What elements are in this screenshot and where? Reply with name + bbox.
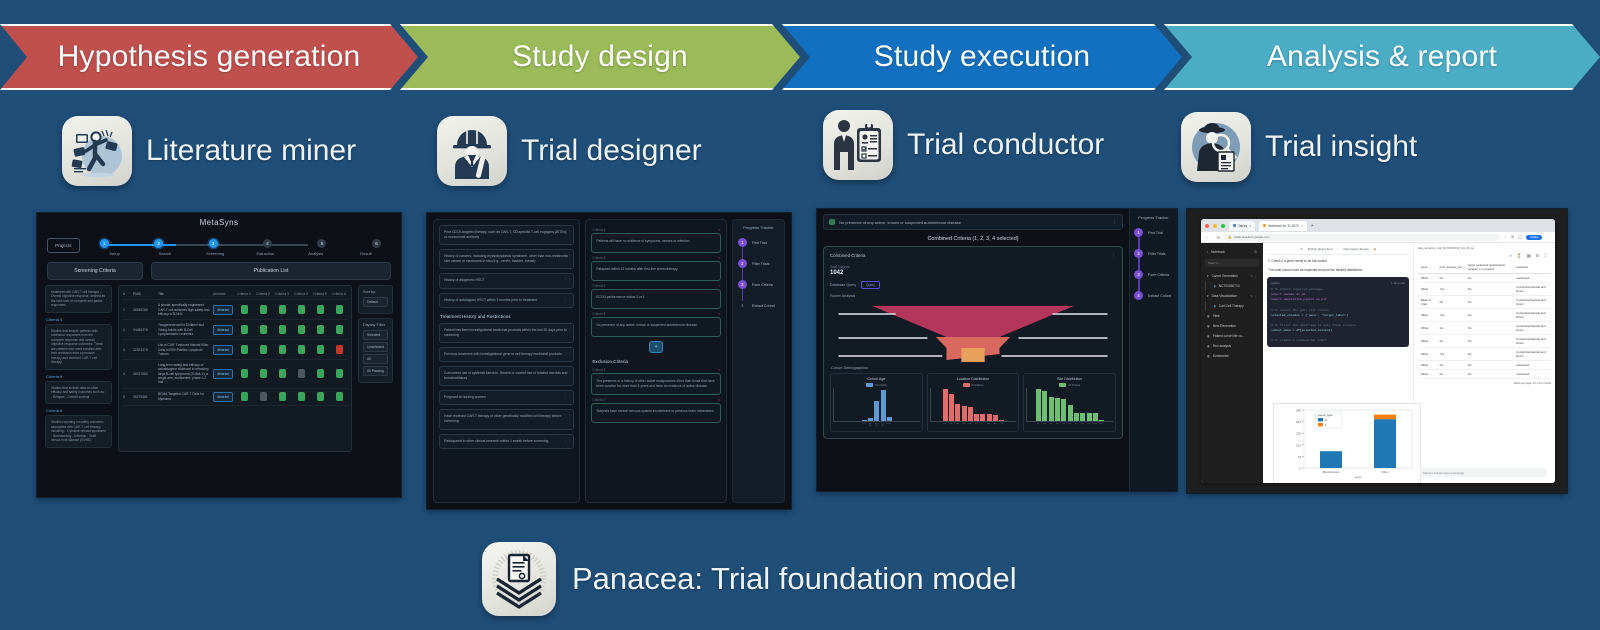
tab-close-icon[interactable]: ×	[1249, 224, 1251, 228]
col-index: #	[123, 292, 130, 296]
step-label-search: Search	[147, 251, 183, 256]
step-dot-4[interactable]: 4	[263, 239, 272, 248]
browser-tab-notebook[interactable]: Notebook for 31.2023 ×	[1259, 221, 1307, 231]
nav-sub-label: NCT00030710	[1219, 284, 1240, 288]
criteria-label[interactable]: Criteria 4	[46, 317, 112, 322]
agent-trial-insight[interactable]: Trial insight	[1181, 112, 1417, 182]
filter-icon[interactable]: ⏳	[1517, 253, 1522, 258]
publication-list-header[interactable]: Publication List	[151, 262, 391, 280]
criteria-cell-6[interactable]	[331, 345, 347, 354]
query-button[interactable]: Query	[861, 281, 880, 289]
trial-designer-body: Prior CD19-targeted therapy, such as CAR…	[427, 213, 791, 509]
svg-text:Other: Other	[1381, 470, 1389, 474]
criteria-input[interactable]: No presence of any active, known or susp…	[591, 317, 720, 337]
criteria-cell-2[interactable]	[255, 392, 271, 401]
criteria-cell-6[interactable]	[331, 305, 347, 314]
criteria-item[interactable]: Prior CD19-targeted therapy, such as CAR…	[439, 225, 574, 245]
criteria-cell-4[interactable]	[293, 345, 309, 354]
status-badge	[298, 369, 305, 378]
back-icon[interactable]: ‹	[1206, 235, 1207, 240]
inclusion-criteria-column[interactable]: Criteria 1✕Patients will have no evidenc…	[585, 219, 726, 503]
list-icon[interactable]: ☰	[1536, 253, 1540, 258]
editor-icon[interactable]: ✎	[1300, 247, 1303, 251]
grid-cell: Cyclophosphamide and Doxor	[1513, 348, 1551, 361]
nav-item-label: New Generation	[1213, 324, 1236, 328]
table-row[interactable]: 438017683Long-term safety and efficacy o…	[122, 360, 348, 389]
menu-icon[interactable]: ⋮	[1546, 235, 1550, 239]
criteria-cell-6[interactable]	[331, 392, 347, 401]
dot-icon: ◍	[1207, 354, 1210, 358]
drag-handle-icon[interactable]: ⋮⋮	[563, 351, 571, 357]
grid-row[interactable]: WhiteNoNoCyclophosphamide and Doxor	[1418, 335, 1551, 348]
criteria-input[interactable]: Subjects have central nervous system inv…	[591, 403, 720, 423]
profile-icon[interactable]: ◯	[1518, 235, 1522, 239]
agent-label: Trial insight	[1265, 130, 1417, 164]
metasyns-topbar: Projects 1 2 3 4 5 6 Setup Search Screen…	[37, 227, 401, 256]
criteria-cell-3[interactable]	[274, 305, 290, 314]
status-badge	[260, 392, 267, 401]
projects-button[interactable]: Projects	[47, 238, 80, 253]
display-filter-label: Display Filter	[363, 323, 388, 327]
abstract-button[interactable]: Abstract	[213, 325, 233, 335]
forward-icon[interactable]: ›	[1211, 235, 1212, 240]
criteria-fields: Criteria 1✕Patients will have no evidenc…	[591, 228, 720, 337]
agent-label: Trial designer	[521, 134, 702, 168]
svg-text:228: 228	[1296, 432, 1301, 436]
drag-handle-icon[interactable]: ⋮⋮	[563, 277, 571, 283]
agent-trial-conductor[interactable]: Trial conductor	[823, 110, 1104, 180]
criteria-input[interactable]: The presence or a history of other activ…	[591, 373, 720, 395]
criteria-item[interactable]: Previous treatment with investigational …	[439, 347, 574, 362]
table-row[interactable]: 538275381BCMA-Targeted CAR-T Cells for M…	[122, 389, 348, 406]
drag-handle-icon[interactable]: ⋮⋮	[563, 297, 571, 303]
svg-text:304: 304	[1296, 420, 1301, 424]
criteria-item[interactable]: Pregnant or nursing women⋮⋮	[439, 390, 574, 405]
legend-label: All Criteria	[1068, 384, 1080, 387]
criteria-cell-5[interactable]	[312, 345, 328, 354]
nav-item[interactable]: ◍New Generation	[1205, 321, 1259, 331]
stage-study-design[interactable]: Study design	[400, 24, 800, 90]
chevron-left-icon[interactable]: ‹	[1207, 250, 1208, 254]
criteria-label: Criteria 2✕	[592, 398, 720, 402]
grid-row[interactable]: WhiteNoNoused/used	[1418, 361, 1551, 370]
stage-label: Hypothesis generation	[58, 40, 361, 74]
grid-cell: No	[1465, 361, 1513, 370]
status-badge	[279, 325, 286, 334]
prompt-input[interactable]: Select a cell and type a message	[1419, 468, 1547, 477]
stacked-document-icon	[482, 542, 556, 616]
step-label-result: Result	[348, 251, 384, 256]
progress-step[interactable]: 2Filter Trials	[738, 259, 779, 268]
criteria-item[interactable]: History of allogeneic HSCT⋮⋮	[439, 273, 574, 288]
browser-tab-tables[interactable]: Tables ×	[1229, 221, 1255, 231]
grid-cell: used/used	[1513, 361, 1551, 370]
remove-icon[interactable]: ✕	[718, 228, 721, 232]
chart-bar	[1042, 391, 1047, 421]
svg-text:76: 76	[1298, 455, 1302, 459]
step-number: 3	[738, 280, 747, 289]
criteria-cell-5[interactable]	[312, 369, 328, 378]
close-window-icon[interactable]	[1205, 224, 1209, 228]
row-title: BCMA-Targeted CAR-T Cells for Myeloma	[158, 392, 210, 401]
row-title: List of CAR-T-induced Natural Killer Cel…	[158, 343, 210, 356]
dot-icon: ◍	[1207, 314, 1210, 318]
criteria-input[interactable]: Patients will have no evidence of sympto…	[591, 233, 720, 253]
data-grid-pane[interactable]: data_extraction_trial_NCT00030710_info_0…	[1413, 243, 1555, 483]
criteria-cell-3[interactable]	[274, 369, 290, 378]
criteria-card: treatment with CAR-T cell therapy. - Ove…	[45, 285, 112, 313]
drag-handle-icon[interactable]: ⋮⋮	[563, 327, 571, 333]
nav-sub-item[interactable]: ▮Cart Cell Therapy	[1205, 301, 1259, 311]
minimize-window-icon[interactable]	[1213, 224, 1217, 228]
screenshot-literature-miner[interactable]: MetaSyns Projects 1 2 3 4 5 6 Setup Sear…	[36, 212, 402, 498]
criteria-cell-1[interactable]	[236, 369, 252, 378]
filter-option-all-passing[interactable]: All Passing	[363, 366, 388, 376]
filter-option-all[interactable]: All	[363, 354, 388, 364]
publication-table[interactable]: # PMID Title Abstract Criteria 1 Criteri…	[118, 285, 352, 452]
grid-row[interactable]: WhiteNoNoused/used	[1418, 274, 1551, 283]
grid-row[interactable]: WhiteNoNoCyclophosphamide and Doxor	[1418, 322, 1551, 335]
grid-row[interactable]: Black or ArabNoNoCyclophosphamide and Do…	[1418, 296, 1551, 309]
notebook-toolbar: ✎ Python Query Tool | View Query Source …	[1267, 247, 1409, 255]
grid-cell: White	[1418, 348, 1437, 361]
sort-by-select[interactable]: Default	[363, 297, 388, 307]
nav-section-label: Cohort Generation	[1212, 274, 1238, 278]
bookmark-icon[interactable]: ☆	[1504, 235, 1507, 239]
status-badge	[241, 392, 248, 401]
legend-swatch	[963, 383, 970, 387]
display-filter-box[interactable]: Display Filter Selected Unselected All A…	[358, 318, 393, 383]
col-criteria-3: Criteria 3	[274, 292, 290, 296]
code-line: # To create a stacked bar chart	[1271, 338, 1405, 343]
step-dot-3[interactable]: 3	[209, 239, 218, 248]
total-subjects-value: 1042	[830, 270, 1116, 276]
search-icon[interactable]: ⌕	[1510, 253, 1512, 258]
criteria-cell-5[interactable]	[312, 392, 328, 401]
criterion-bar[interactable]: No presence of any active, known or susp…	[823, 214, 1123, 230]
table-row[interactable]: 332923375List of CAR-T-induced Natural K…	[122, 340, 348, 360]
criteria-input[interactable]: ECOG performance status 0 or 1	[591, 289, 720, 309]
nav-item-label: Patient cohort file co...	[1213, 334, 1245, 338]
grid-pagination[interactable]: Rows per page: 10 1-10 of 1042	[1418, 379, 1551, 385]
chart-icon: ▮	[1214, 304, 1216, 308]
collapse-icon[interactable]: ⎘	[1254, 250, 1257, 254]
abstract-button[interactable]: Abstract	[213, 345, 233, 355]
grid-cell: Yes	[1437, 348, 1465, 361]
run-cell-button[interactable]: ▷ Run cell	[1391, 281, 1405, 285]
drag-handle-icon[interactable]: ⋮⋮	[563, 229, 571, 235]
update-button[interactable]: Update	[1526, 235, 1542, 240]
nav-item[interactable]: ◍Summarize	[1205, 351, 1259, 361]
drag-handle-icon[interactable]: ⋮⋮	[563, 394, 571, 400]
criteria-cell-1[interactable]	[236, 345, 252, 354]
trial-conductor-body: No presence of any active, known or susp…	[817, 209, 1177, 491]
nav-item[interactable]: ◍Files	[1205, 311, 1259, 321]
play-icon: ▷	[1391, 281, 1393, 285]
criteria-item[interactable]: History of cancers, including myelodyspl…	[439, 249, 574, 269]
reload-icon[interactable]: ⟳	[1217, 235, 1220, 240]
screening-criteria-list[interactable]: treatment with CAR-T cell therapy. - Ove…	[45, 285, 112, 452]
python-query-tool-button[interactable]: Python Query Tool	[1308, 247, 1333, 251]
criteria-cell-3[interactable]	[274, 345, 290, 354]
row-index: 2	[123, 328, 130, 332]
address-field[interactable]: 🔒 colab.research.google.com	[1224, 234, 1500, 241]
progress-steps: 1Find Trial2Filter Trials3Form Criteria4…	[1134, 228, 1173, 300]
maximize-window-icon[interactable]	[1221, 224, 1225, 228]
grid-column-header[interactable]: gene	[1418, 261, 1437, 274]
criteria-cell-4[interactable]	[293, 325, 309, 334]
criteria-cell-1[interactable]	[236, 305, 252, 314]
abstract-button[interactable]: Abstract	[213, 305, 233, 315]
progress-steps: 1Find Trial2Filter Trials3Form Criteria4…	[738, 238, 779, 310]
grid-row[interactable]: WhiteNoNoused/used	[1418, 370, 1551, 379]
legend-swatch	[866, 383, 873, 387]
grid-cell: White	[1418, 274, 1437, 283]
grid-cell: No	[1465, 322, 1513, 335]
criteria-cell-4[interactable]	[293, 305, 309, 314]
criteria-cell-5[interactable]	[312, 325, 328, 334]
criteria-label: Criteria 2✕	[592, 256, 720, 260]
criteria-input[interactable]: Relapsed within 12 months after first-li…	[591, 261, 720, 281]
criteria-cell-6[interactable]	[331, 369, 347, 378]
svg-text:380: 380	[1296, 409, 1301, 413]
lock-icon: 🔒	[1228, 235, 1232, 239]
nav-section[interactable]: ▾Data Visualization✎ ⋮	[1205, 291, 1259, 301]
browser-window[interactable]: Tables × Notebook for 31.2023 × + ‹ › ⟳ …	[1201, 219, 1555, 483]
sort-by-box[interactable]: Sort by: Default	[358, 285, 393, 314]
grid-cell: White	[1418, 322, 1437, 335]
criteria-item[interactable]: Patient has been investigational medicin…	[439, 323, 574, 343]
criteria-cell-6[interactable]	[331, 325, 347, 334]
grid-cell: Cyclophosphamide and Doxor	[1513, 296, 1551, 309]
step-dot-6[interactable]: 6	[372, 239, 381, 248]
criteria-label[interactable]: Criteria 5	[46, 374, 112, 379]
status-badge	[298, 345, 305, 354]
combined-criteria-title: Combined Criteria (1, 2, 3, 4 selected)	[823, 230, 1123, 246]
exclusion-items-column[interactable]: Prior CD19-targeted therapy, such as CAR…	[433, 219, 580, 503]
progress-step[interactable]: 1Find Trial	[738, 238, 779, 247]
row-pmid: 38017683	[133, 372, 155, 376]
status-badge	[260, 325, 267, 334]
remove-icon[interactable]: ✕	[718, 398, 721, 402]
grid-row[interactable]: WhiteYesNoCyclophosphamide and Doxor	[1418, 283, 1551, 296]
remove-icon[interactable]: ✕	[718, 368, 721, 372]
grid-cell: Cyclophosphamide and Doxor	[1513, 283, 1551, 296]
chart-bar	[980, 414, 985, 421]
chart-bar	[1049, 397, 1054, 421]
chart-bar	[1099, 420, 1104, 422]
add-criteria-button[interactable]: +	[649, 341, 663, 353]
grid-column-header[interactable]: target epidermal growth factor receptor …	[1465, 261, 1513, 274]
screenshot-trial-insight[interactable]: Tables × Notebook for 31.2023 × + ‹ › ⟳ …	[1186, 208, 1568, 494]
chart-legend: All Criteria	[1026, 383, 1113, 387]
progress-step[interactable]: 2Filter Trials	[1134, 249, 1173, 258]
status-badge	[336, 325, 343, 334]
chart-title: Cohort Age	[833, 377, 920, 381]
criteria-cell-4[interactable]	[293, 369, 309, 378]
stage-label: Analysis & report	[1267, 40, 1497, 74]
step-dot-1[interactable]: 1	[100, 239, 109, 248]
progress-step[interactable]: 1Find Trial	[1134, 228, 1173, 237]
grid-column-header[interactable]: prior_therapy_yes	[1437, 261, 1465, 274]
code-cell[interactable]: python ▷ Run cell # To import required p…	[1267, 277, 1409, 347]
progress-step[interactable]: 3Form Criteria	[1134, 270, 1173, 279]
nav-item-label: Summarize	[1213, 354, 1229, 358]
nav-item[interactable]: ◍Run analysis	[1205, 341, 1259, 351]
chart-bar	[1055, 398, 1060, 421]
grid-column-header[interactable]: treatment	[1513, 261, 1551, 274]
chart-bar	[943, 389, 948, 421]
chart-title: Site Distribution	[1026, 377, 1113, 381]
row-index: 4	[123, 372, 130, 376]
stage-hypothesis-generation[interactable]: Hypothesis generation	[0, 24, 418, 90]
grid-cell: Cyclophosphamide and Doxor	[1513, 335, 1551, 348]
step-label-screening: Screening	[197, 251, 233, 256]
extensions-icon[interactable]: ⊞	[1511, 235, 1514, 239]
screening-criteria-header[interactable]: Screening Criteria	[47, 262, 143, 280]
remove-icon[interactable]: ✕	[718, 256, 721, 260]
grid-cell: No	[1465, 348, 1513, 361]
status-badge	[317, 369, 324, 378]
abstract-button[interactable]: Abstract	[213, 392, 233, 402]
nav-sub-item[interactable]: ▮NCT00030710	[1205, 281, 1259, 291]
col-criteria-1: Criteria 1	[236, 292, 252, 296]
drag-handle-icon[interactable]: ⋮⋮	[563, 253, 571, 259]
chart-title: Location Distribution	[930, 377, 1017, 381]
criteria-item[interactable]: Concurrent use of systemic steroids. Rec…	[439, 366, 574, 386]
drag-handle-icon[interactable]: ⋮⋮	[563, 370, 571, 376]
grid-cell: White	[1418, 283, 1437, 296]
grid-cell: No	[1465, 370, 1513, 379]
metasyns-body: treatment with CAR-T cell therapy. - Ove…	[37, 280, 401, 452]
stop-icon[interactable]: ■	[1374, 247, 1376, 251]
nav-item[interactable]: ◍Patient cohort file co...	[1205, 331, 1259, 341]
status-badge	[298, 325, 305, 334]
criteria-cell-2[interactable]	[255, 305, 271, 314]
col-title: Title	[158, 292, 210, 296]
criteria-item[interactable]: Have received CAR-T therapy or other gen…	[439, 409, 574, 429]
database-query-label: Database Query	[830, 283, 856, 287]
view-query-source-button[interactable]: View Query Source	[1343, 247, 1369, 251]
detective-magnifier-icon	[1181, 112, 1251, 182]
criteria-cell-3[interactable]	[274, 325, 290, 334]
agent-trial-designer[interactable]: Trial designer	[437, 116, 702, 186]
screenshot-trial-conductor[interactable]: No presence of any active, known or susp…	[816, 208, 1178, 492]
agent-literature-miner[interactable]: Literature miner	[62, 116, 356, 186]
criteria-cell-5[interactable]	[312, 305, 328, 314]
metasyns-section-headers: Screening Criteria Publication List	[37, 256, 401, 280]
filter-option-selected[interactable]: Selected	[363, 330, 388, 340]
cohort-demographics-label: Cohort Demographics	[831, 366, 1116, 370]
chevron-down-icon[interactable]: ▾	[1207, 294, 1209, 298]
publication-sidebar[interactable]: Sort by: Default Display Filter Selected…	[358, 285, 393, 452]
criteria-item[interactable]: History of autologous HSCT within 3 mont…	[439, 293, 574, 308]
criteria-cell-1[interactable]	[236, 392, 252, 401]
engineer-hardhat-icon	[437, 116, 507, 186]
step-dot-5[interactable]: 5	[317, 239, 326, 248]
progress-step[interactable]: 3Form Criteria	[738, 280, 779, 289]
criteria-label[interactable]: Criteria 6	[46, 408, 112, 413]
nav-search-input[interactable]: Search...	[1205, 259, 1259, 267]
drag-handle-icon[interactable]: ⋮⋮	[563, 413, 571, 419]
table-row[interactable]: 138045286A pivotal, specifically enginee…	[122, 300, 348, 320]
criteria-cell-1[interactable]	[236, 325, 252, 334]
criteria-cell-3[interactable]	[274, 392, 290, 401]
combined-criteria-card: Combined Criteria ⋮ Total Subjects 1042 …	[823, 246, 1123, 439]
table-icon[interactable]: ▦	[1527, 253, 1531, 258]
treatment-history-title: Treatment History and Restrictions	[440, 314, 574, 319]
progress-step[interactable]: 4Extract Cohort	[1134, 291, 1173, 300]
status-badge	[241, 325, 248, 334]
step-dot-2[interactable]: 2	[154, 239, 163, 248]
criteria-cell-2[interactable]	[255, 369, 271, 378]
chart-bar	[974, 414, 979, 421]
abstract-button[interactable]: Abstract	[213, 369, 233, 379]
step-number: 1	[1134, 228, 1143, 237]
nav-sections: ▾Cohort Generation✎ ⋮▮NCT00030710▾Data V…	[1205, 271, 1259, 311]
chart-bar	[962, 406, 967, 421]
criteria-cell-2[interactable]	[255, 345, 271, 354]
row-title: A pivotal, specifically engineered CAR-T…	[158, 303, 210, 316]
expand-icon[interactable]: ⛶	[1544, 253, 1547, 258]
step-label-extraction: Extraction	[247, 251, 283, 256]
conductor-main: No presence of any active, known or susp…	[817, 209, 1129, 491]
filter-option-unselected[interactable]: Unselected	[363, 342, 388, 352]
status-badge	[336, 345, 343, 354]
stage-analysis-report[interactable]: Analysis & report	[1164, 24, 1600, 90]
svg-text:event_type: event_type	[1318, 413, 1333, 417]
drag-handle-icon[interactable]: ⋮⋮	[563, 438, 571, 444]
more-options-icon[interactable]: ⋮	[1112, 219, 1117, 225]
criteria-cell-2[interactable]	[255, 325, 271, 334]
criteria-items: Prior CD19-targeted therapy, such as CAR…	[439, 225, 574, 308]
nav-section-label: Data Visualization	[1212, 294, 1237, 298]
step-label: Find Trial	[1148, 231, 1163, 235]
criteria-item[interactable]: Participated in other clinical research …	[439, 434, 574, 449]
tab-close-icon[interactable]: ×	[1301, 224, 1303, 228]
remove-icon[interactable]: ✕	[718, 284, 721, 288]
grid-row[interactable]: WhiteYesNoCyclophosphamide and Doxor	[1418, 309, 1551, 322]
publication-rows: 138045286A pivotal, specifically enginee…	[122, 300, 348, 405]
criterion-text: No presence of any active, known or susp…	[839, 220, 961, 225]
nav-section[interactable]: ▾Cohort Generation✎ ⋮	[1205, 271, 1259, 281]
grid-cell: No	[1465, 283, 1513, 296]
criteria-label: Criteria 1✕	[592, 368, 720, 372]
legend-label: All Criteria	[875, 384, 887, 387]
left-nav[interactable]: ‹ Notebook ⎘ Search... ▾Cohort Generatio…	[1201, 243, 1263, 483]
remove-icon[interactable]: ✕	[718, 312, 721, 316]
progress-step[interactable]: 4Extract Cohort	[738, 301, 779, 310]
card-header: Combined Criteria ⋮	[830, 253, 1116, 259]
edit-icon[interactable]: ✎ ⋮	[1250, 274, 1257, 278]
new-tab-icon[interactable]: +	[1311, 223, 1314, 229]
edit-icon[interactable]: ✎ ⋮	[1250, 294, 1257, 298]
step-label: Find Trial	[752, 241, 767, 245]
grid-row[interactable]: WhiteYesNoCyclophosphamide and Doxor	[1418, 348, 1551, 361]
nav-items: ◍Files◍New Generation◍Patient cohort fil…	[1205, 311, 1259, 361]
grid-cell: No	[1437, 335, 1465, 348]
table-row[interactable]: 234486378Tisagenlecleucel in Children an…	[122, 320, 348, 340]
chevron-down-icon[interactable]: ▾	[1207, 274, 1209, 278]
check-icon	[829, 219, 835, 225]
screenshot-trial-designer[interactable]: Prior CD19-targeted therapy, such as CAR…	[426, 212, 792, 510]
stage-study-execution[interactable]: Study execution	[782, 24, 1182, 90]
row-title: Tisagenlecleucel in Children and Young A…	[158, 323, 210, 336]
criteria-cell-4[interactable]	[293, 392, 309, 401]
foundation-model-row[interactable]: Panacea: Trial foundation model	[482, 542, 1017, 616]
more-options-icon[interactable]: ⋮	[1111, 253, 1116, 259]
chart-legend: All Criteria	[930, 383, 1017, 387]
